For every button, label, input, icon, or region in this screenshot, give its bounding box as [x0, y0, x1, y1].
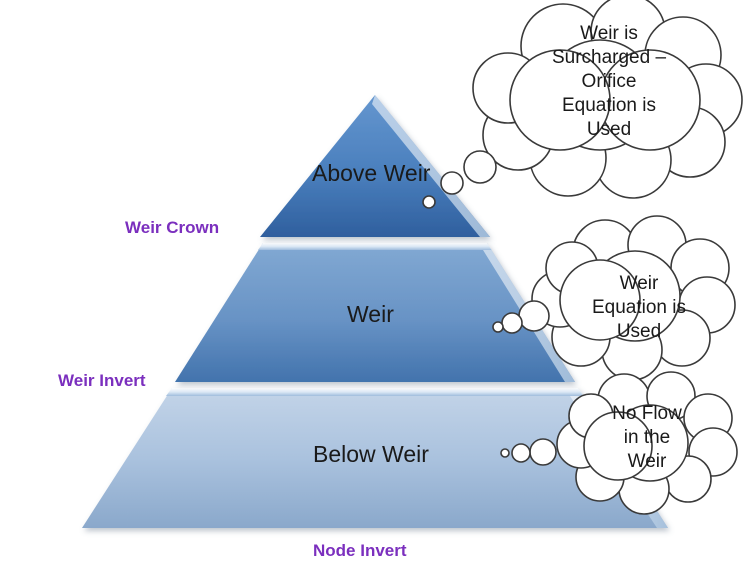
- tier-label-below-weir: Below Weir: [313, 441, 429, 468]
- tier-label-above-weir: Above Weir: [312, 160, 430, 187]
- thought-bubble-text-weir: WeirEquation isUsed: [568, 272, 710, 344]
- axis-label-weir-crown: Weir Crown: [125, 218, 219, 238]
- axis-label-node-invert: Node Invert: [313, 541, 407, 561]
- thought-bubble-text-below-weir: No Flowin theWeir: [592, 402, 702, 474]
- tier-label-weir: Weir: [347, 301, 394, 328]
- axis-label-weir-invert: Weir Invert: [58, 371, 146, 391]
- thought-bubble-text-above-weir: Weir isSurcharged –OrificeEquation isUse…: [518, 22, 700, 142]
- diagram-canvas: Above Weir Weir Below Weir Weir Crown We…: [0, 0, 744, 575]
